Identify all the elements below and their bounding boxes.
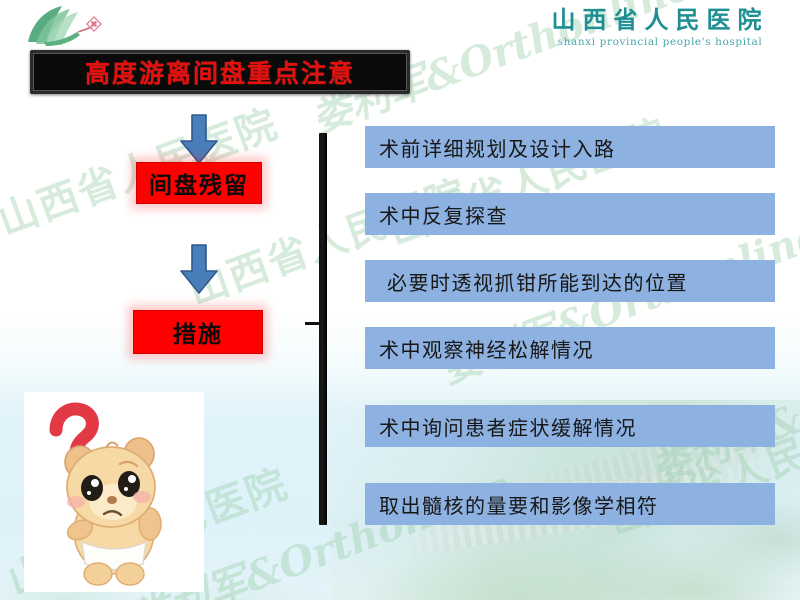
slide-title-bar: 高度游离间盘重点注意 [30, 50, 410, 94]
slide-canvas: 山西省人民医院山西省人民医院山西省人民医院山西省人民医院山西省人民医院娄利军&O… [0, 0, 800, 600]
hospital-name-en: shanxi provincial people's hospital [540, 36, 780, 48]
vertical-bracket-line [319, 133, 327, 525]
dove-logo-icon [22, 2, 118, 54]
flow-box: 措施 [133, 310, 263, 354]
checklist-item: 术中反复探查 [365, 193, 775, 235]
checklist-item-label: 取出髓核的量要和影像学相符 [365, 490, 659, 519]
checklist-item-label: 必要时透视抓钳所能到达的位置 [365, 267, 688, 296]
flow-box: 间盘残留 [136, 162, 262, 204]
checklist-item: 术中询问患者症状缓解情况 [365, 405, 775, 447]
hospital-name-cn: 山西省人民医院 [540, 6, 780, 34]
bracket-tick-mark [305, 322, 321, 325]
checklist-item-label: 术中观察神经松解情况 [365, 334, 594, 363]
confused-bear-mascot [24, 392, 204, 592]
checklist-item-label: 术中询问患者症状缓解情况 [365, 412, 637, 441]
checklist-item-label: 术前详细规划及设计入路 [365, 133, 616, 162]
flow-box-label: 间盘残留 [149, 166, 249, 200]
checklist-item: 术前详细规划及设计入路 [365, 126, 775, 168]
hospital-logo: 山西省人民医院 shanxi provincial people's hospi… [540, 6, 780, 48]
checklist-item: 取出髓核的量要和影像学相符 [365, 483, 775, 525]
down-arrow-icon [177, 243, 221, 295]
down-arrow-icon [177, 113, 221, 165]
page-title: 高度游离间盘重点注意 [85, 54, 355, 90]
checklist-item-label: 术中反复探查 [365, 200, 508, 229]
flow-box-label: 措施 [173, 315, 223, 349]
checklist-item: 必要时透视抓钳所能到达的位置 [365, 260, 775, 302]
checklist-item: 术中观察神经松解情况 [365, 327, 775, 369]
